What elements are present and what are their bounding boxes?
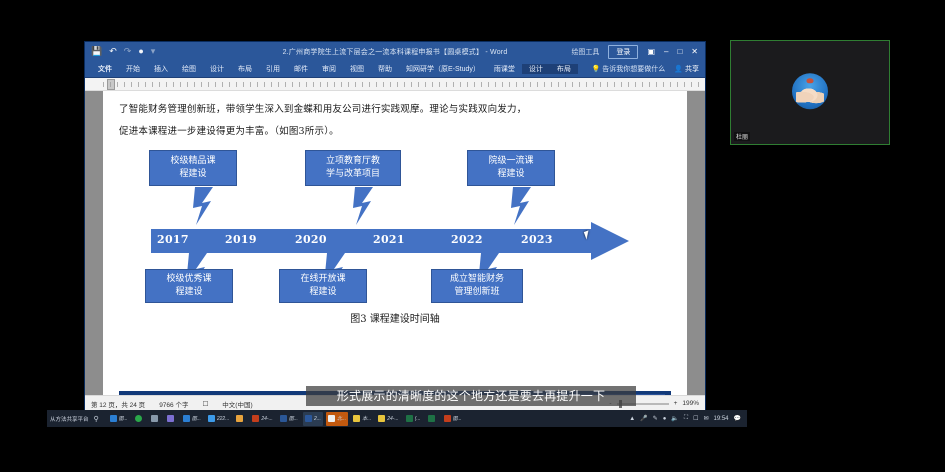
zoom-in-button[interactable]: +: [674, 400, 678, 407]
minimize-icon[interactable]: –: [664, 48, 668, 56]
timeline-year-2020: 2020: [295, 233, 327, 246]
ribbon-tab-home[interactable]: 开始: [119, 64, 147, 74]
taskbar-item-12[interactable]: 本...: [351, 412, 373, 426]
taskbar-item-5-label: 图...: [192, 415, 201, 422]
ribbon-tab-draw[interactable]: 绘图: [175, 64, 203, 74]
timeline-axis[interactable]: 2017 2019 2020 2021 2022 2023: [151, 229, 629, 253]
ribbon-tab-cnki-estudy[interactable]: 知网研学（原E-Study）: [399, 64, 487, 74]
word-window: 💾 ↶ ↷ ● ▾ 2.广州商学院生上流下层会之一流本科课程申报书【圆桌模式】 …: [85, 42, 705, 412]
subtitle-caption: 形式展示的清晰度的这个地方还是要去再提升一下: [306, 386, 636, 406]
timeline-figure[interactable]: 校级精品课 程建设 立项教育厅教 学与改革项目 院级一流课 程建设: [119, 147, 671, 335]
shared-screen-stage: 💾 ↶ ↷ ● ▾ 2.广州商学院生上流下层会之一流本科课程申报书【圆桌模式】 …: [0, 0, 945, 410]
app-icon[interactable]: ●: [663, 416, 667, 422]
share-button[interactable]: 👤 共享: [674, 64, 699, 74]
timeline-year-2023: 2023: [521, 233, 553, 246]
close-icon[interactable]: ✕: [691, 48, 698, 56]
participant-name: 杜丽: [734, 132, 750, 141]
lightning-connector-icon: [353, 187, 375, 225]
language-status[interactable]: 中文(中国): [222, 399, 252, 409]
lightbulb-icon: 💡: [592, 65, 601, 73]
avatar-accent-icon: [807, 78, 814, 83]
timeline-top-box-2[interactable]: 立项教育厅教 学与改革项目: [305, 150, 401, 186]
screen-capture: 💾 ↶ ↷ ● ▾ 2.广州商学院生上流下层会之一流本科课程申报书【圆桌模式】 …: [0, 0, 945, 472]
ruler-ticks: [103, 82, 699, 87]
taskbar-item-13-label: 24-...: [387, 416, 398, 422]
taskbar-item-16[interactable]: 图...: [442, 412, 464, 426]
timeline-bottom-box-3[interactable]: 成立智能财务 管理创新班: [431, 269, 523, 303]
timeline-top-box-1[interactable]: 校级精品课 程建设: [149, 150, 237, 186]
document-paragraph-line-1: 了智能财务管理创新班，带领学生深入到金蝶和用友公司进行实践观摩。理论与实践双向发…: [119, 99, 671, 121]
network-icon[interactable]: ☐: [693, 415, 698, 422]
ribbon-tab-drawing-layout[interactable]: 布局: [550, 64, 578, 74]
taskbar-item-1-label: 图...: [119, 415, 128, 422]
context-tab-label: 绘图工具: [571, 47, 599, 57]
timeline-top-box-3[interactable]: 院级一流课 程建设: [467, 150, 555, 186]
lightning-connector-icon: [511, 187, 533, 225]
timeline-year-2017: 2017: [157, 233, 189, 246]
letterbox-bottom: [0, 427, 945, 472]
ribbon-tab-design[interactable]: 设计: [203, 64, 231, 74]
participant-video-tile[interactable]: 杜丽: [730, 40, 890, 145]
ribbon-tab-review[interactable]: 审阅: [315, 64, 343, 74]
timeline-bottom-box-2[interactable]: 在线开放课 程建设: [279, 269, 367, 303]
taskbar-item-5[interactable]: 图...: [181, 412, 203, 426]
ribbon-tab-drawing-design[interactable]: 设计: [522, 64, 550, 74]
pen-icon[interactable]: ✎: [653, 415, 658, 422]
share-label: 共享: [685, 64, 699, 74]
notification-icon[interactable]: 💬: [734, 415, 741, 422]
document-canvas[interactable]: 了智能财务管理创新班，带领学生深入到金蝶和用友公司进行实践观摩。理论与实践双向发…: [85, 91, 705, 395]
save-icon[interactable]: 💾: [91, 47, 102, 56]
timeline-top-box-3-label: 院级一流课 程建设: [488, 155, 533, 181]
start-label[interactable]: 从方法共享平台: [50, 415, 89, 423]
document-page[interactable]: 了智能财务管理创新班，带领学生深入到金蝶和用友公司进行实践观摩。理论与实践双向发…: [103, 91, 687, 395]
taskbar-item-9[interactable]: 图...: [278, 412, 300, 426]
document-paragraph-line-2: 促进本课程进一步建设得更为丰富。（如图3所示）。: [119, 121, 671, 143]
horizontal-ruler[interactable]: [85, 78, 705, 91]
timeline-arrow-head-icon: [591, 222, 629, 260]
taskbar-item-13[interactable]: 24-...: [376, 412, 400, 426]
taskbar-item-3[interactable]: [149, 412, 162, 426]
taskbar-item-11-label: 北...: [337, 415, 346, 422]
system-tray: ▲ 🎤 ✎ ● 🔈 ⛶ ☐ ✉ 19:54 💬: [629, 415, 744, 422]
quick-access-toolbar: 💾 ↶ ↷ ● ▾: [85, 47, 155, 56]
search-icon[interactable]: ⚲: [92, 412, 105, 426]
taskbar-item-8[interactable]: 24-...: [250, 412, 274, 426]
redo-icon[interactable]: ↷: [124, 47, 132, 56]
taskbar-item-10[interactable]: 2...: [303, 412, 323, 426]
taskbar-clock[interactable]: 19:54: [714, 416, 729, 422]
word-title-bar: 💾 ↶ ↷ ● ▾ 2.广州商学院生上流下层会之一流本科课程申报书【圆桌模式】 …: [85, 42, 705, 61]
wechat-icon[interactable]: ✉: [703, 415, 708, 422]
avatar: [792, 73, 828, 109]
word-count-status[interactable]: 9766 个字: [159, 399, 188, 409]
page-count-status[interactable]: 第 12 页，共 24 页: [91, 399, 145, 409]
zoom-level-label[interactable]: 199%: [682, 400, 699, 407]
taskbar-item-6[interactable]: 222...: [206, 412, 232, 426]
taskbar-item-14[interactable]: (...: [404, 412, 423, 426]
ribbon-tab-references[interactable]: 引用: [259, 64, 287, 74]
ribbon-tab-insert[interactable]: 插入: [147, 64, 175, 74]
taskbar-item-15[interactable]: [426, 412, 439, 426]
taskbar-item-10-label: 2...: [314, 416, 321, 422]
ribbon-tab-rainclassroom[interactable]: 雨课堂: [487, 64, 522, 74]
timeline-year-2019: 2019: [225, 233, 257, 246]
taskbar-item-2[interactable]: [133, 412, 146, 426]
ribbon-tab-view[interactable]: 视图: [343, 64, 371, 74]
taskbar-item-7[interactable]: [234, 412, 247, 426]
ribbon-tab-mailings[interactable]: 邮件: [287, 64, 315, 74]
taskbar-item-16-label: 图...: [453, 415, 462, 422]
timeline-year-2021: 2021: [373, 233, 405, 246]
timeline-year-2022: 2022: [451, 233, 483, 246]
figure-caption: 图3 课程建设时间轴: [119, 310, 671, 325]
ribbon-tab-bar: 文件 开始 插入 绘图 设计 布局 引用 邮件 审阅 视图 帮助 知网研学（原E…: [85, 61, 705, 78]
customize-icon[interactable]: ●: [138, 47, 143, 56]
tell-me-box[interactable]: 💡 告诉我你想要做什么: [592, 64, 666, 74]
maximize-icon[interactable]: □: [677, 48, 682, 56]
taskbar-item-6-label: 222...: [217, 416, 230, 422]
chevron-up-icon[interactable]: ▲: [629, 416, 635, 422]
ribbon-tab-file[interactable]: 文件: [91, 64, 119, 74]
battery-icon[interactable]: ⛶: [684, 415, 688, 422]
taskbar-item-14-label: (...: [415, 416, 421, 422]
sign-in-button[interactable]: 登录: [608, 45, 638, 59]
volume-icon[interactable]: 🔈: [671, 415, 678, 422]
timeline-bottom-box-2-label: 在线开放课 程建设: [300, 273, 345, 299]
taskbar-item-9-label: 图...: [289, 415, 298, 422]
taskbar-item-12-label: 本...: [362, 415, 371, 422]
taskbar-item-11-active[interactable]: 北...: [326, 412, 348, 426]
timeline-bottom-box-1-label: 校级优秀课 程建设: [166, 273, 211, 299]
lightning-connector-icon: [193, 187, 215, 225]
timeline-bottom-box-1[interactable]: 校级优秀课 程建设: [145, 269, 233, 303]
timeline-bottom-box-3-label: 成立智能财务 管理创新班: [450, 273, 504, 299]
undo-icon[interactable]: ↶: [109, 47, 117, 56]
more-icon[interactable]: ▾: [151, 47, 156, 56]
taskbar-item-4[interactable]: [165, 412, 178, 426]
windows-taskbar: 从方法共享平台 ⚲ 图... 图... 222... 24-... 图... 2…: [47, 410, 747, 427]
taskbar-item-8-label: 24-...: [261, 416, 272, 422]
person-icon: 👤: [674, 65, 683, 73]
tell-me-label: 告诉我你想要做什么: [602, 64, 665, 74]
ribbon-tab-layout[interactable]: 布局: [231, 64, 259, 74]
timeline-top-box-1-label: 校级精品课 程建设: [170, 155, 215, 181]
ribbon-display-icon[interactable]: ▣: [647, 48, 655, 56]
timeline-top-box-2-label: 立项教育厅教 学与改革项目: [326, 155, 380, 181]
proofing-icon[interactable]: ☐: [202, 400, 208, 408]
taskbar-item-1[interactable]: 图...: [108, 412, 130, 426]
ribbon-tab-help[interactable]: 帮助: [371, 64, 399, 74]
avatar-hands-icon: [796, 87, 824, 107]
microphone-icon[interactable]: 🎤: [640, 415, 647, 422]
